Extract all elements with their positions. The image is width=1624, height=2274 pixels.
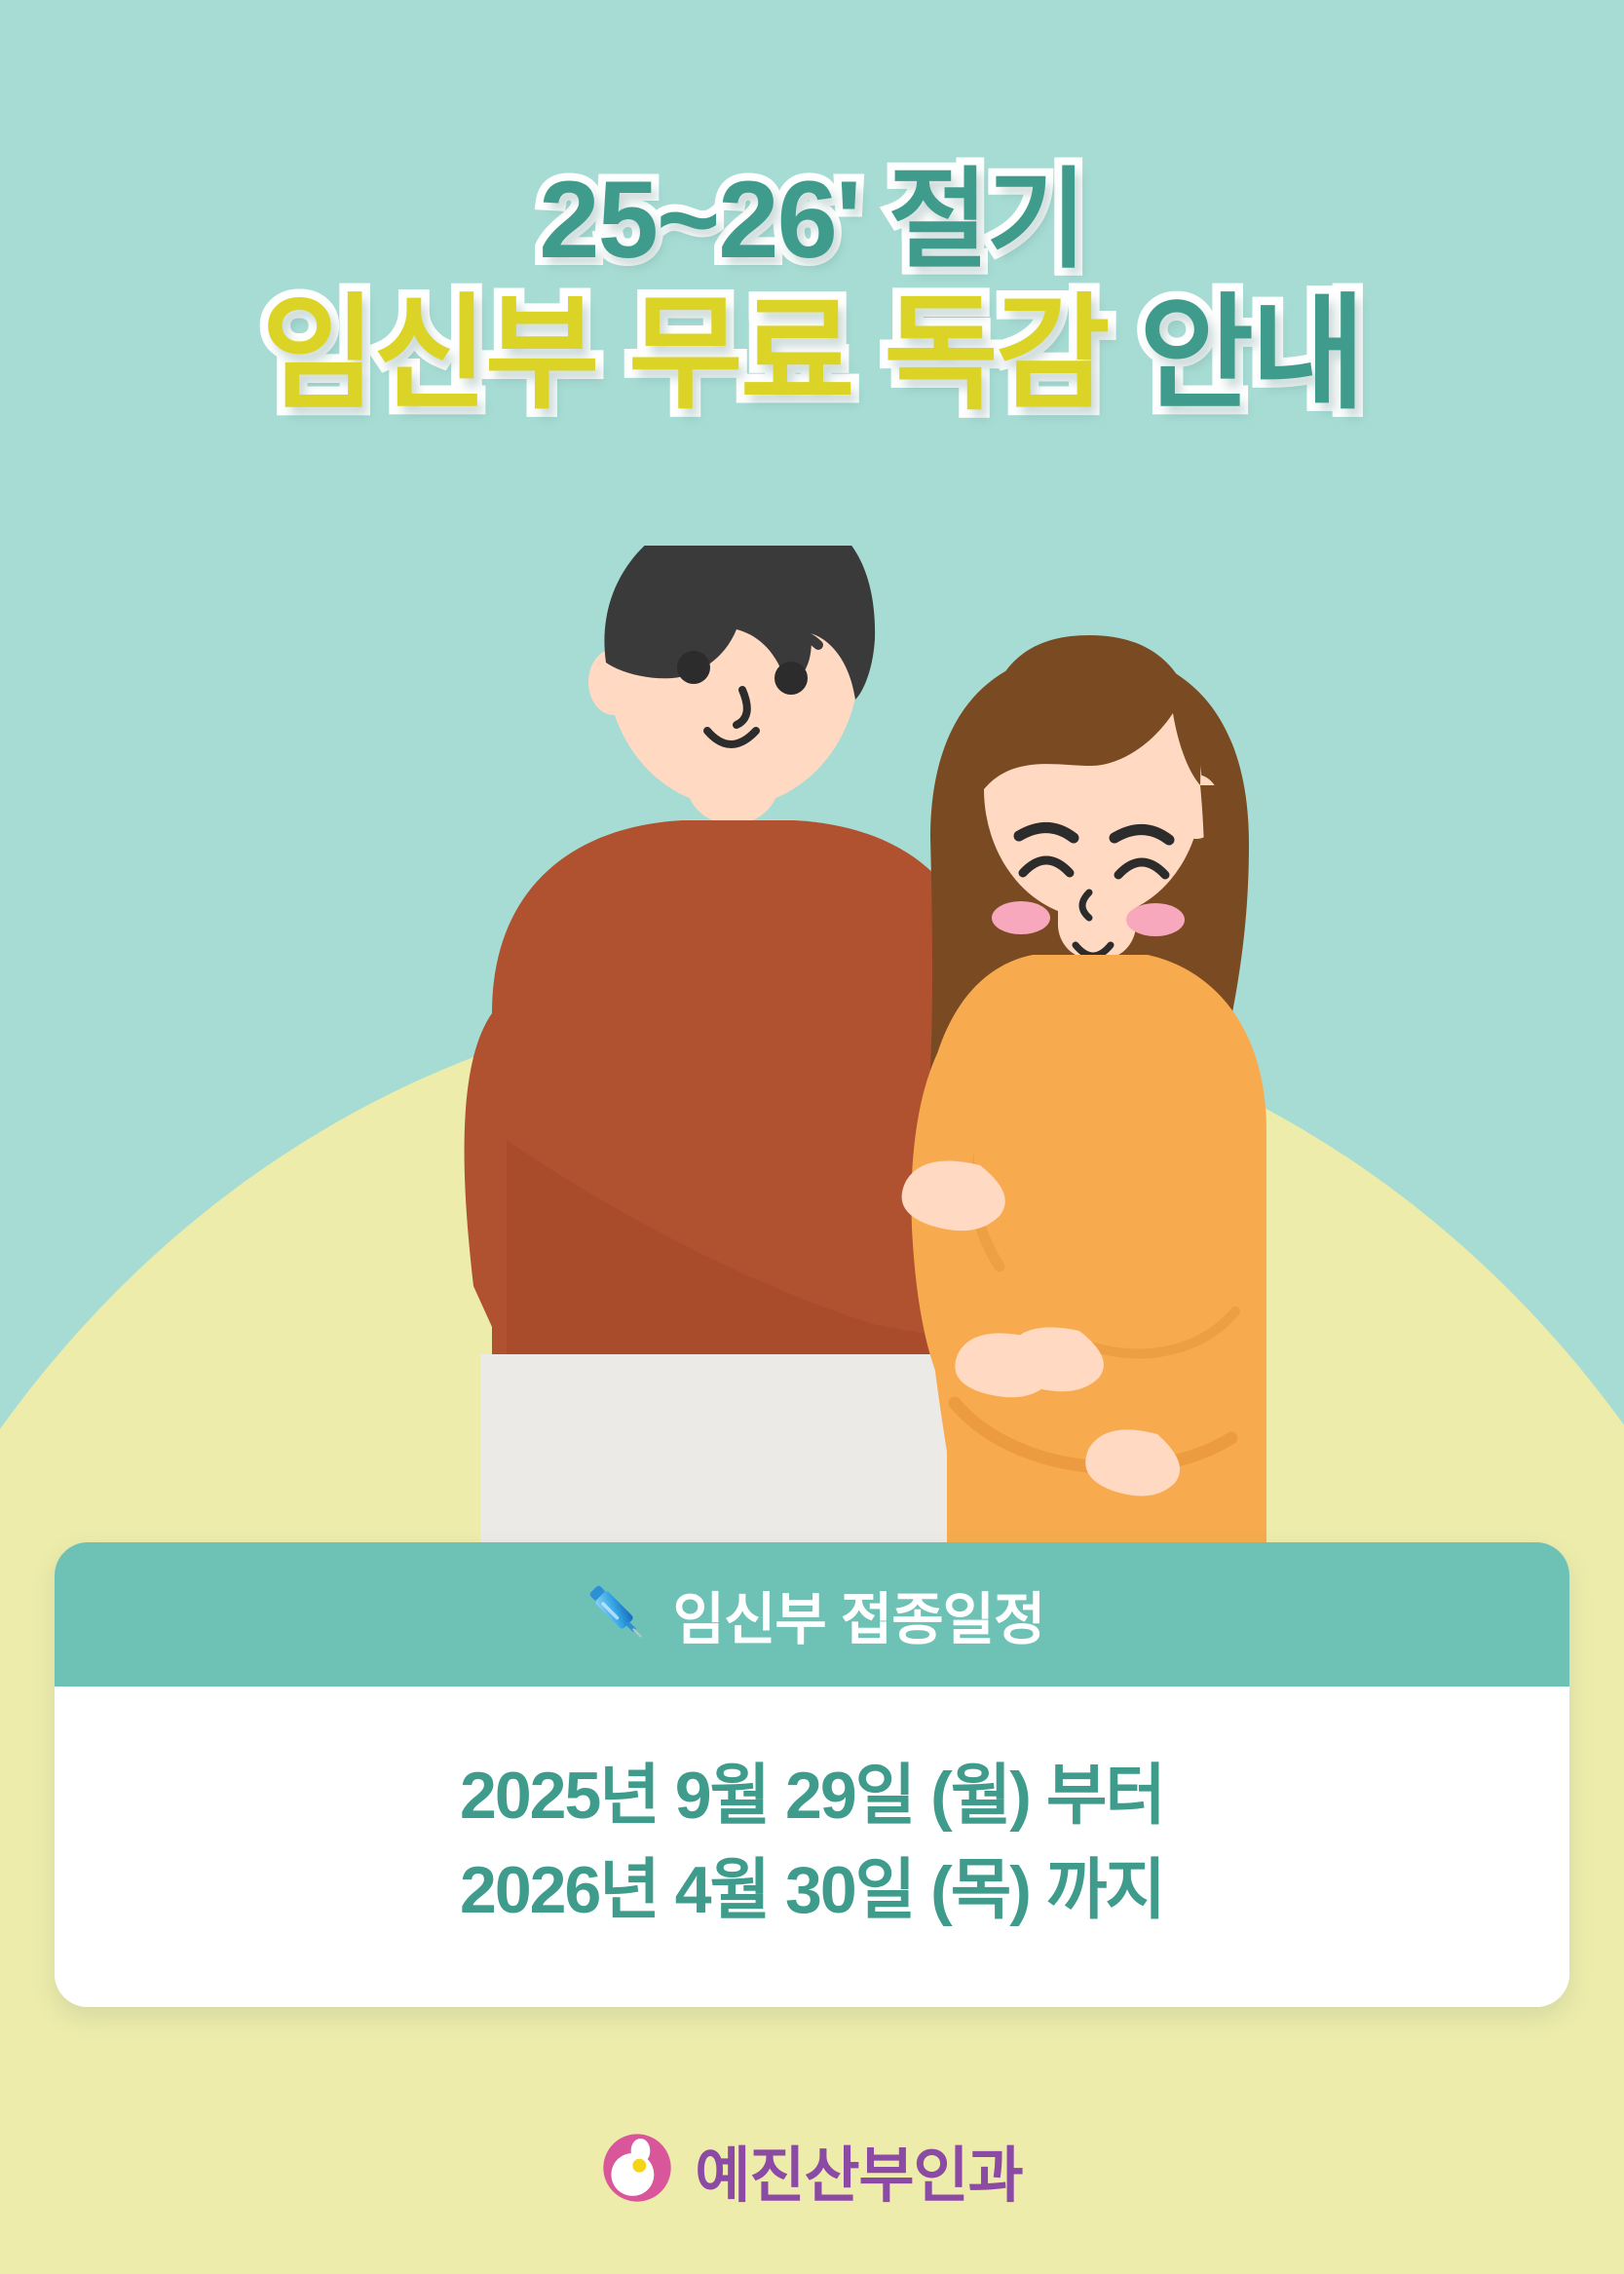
schedule-card-title: 임신부 접종일정 [673, 1573, 1045, 1655]
poster-root: 25~26' 절기 임신부 무료 독감 안내 [0, 0, 1624, 2274]
couple-illustration [0, 546, 1624, 1549]
schedule-card-body: 2025년 9월 29일 (월) 부터 2026년 4월 30일 (목) 까지 [55, 1687, 1569, 2007]
schedule-start-date: 2025년 9월 29일 (월) 부터 [55, 1749, 1569, 1843]
schedule-end-date: 2026년 4월 30일 (목) 까지 [55, 1843, 1569, 1938]
clinic-mark-icon [601, 2132, 673, 2209]
headline-line-1: 25~26' 절기 [0, 166, 1624, 275]
schedule-card: 임신부 접종일정 2025년 9월 29일 (월) 부터 2026년 4월 30… [55, 1542, 1569, 2007]
syringe-icon [580, 1575, 654, 1654]
clinic-name: 예진산부인과 [695, 2126, 1022, 2214]
headline-highlight-text: 임신부 무료 독감 [261, 284, 1107, 424]
headline-line-2: 임신부 무료 독감 안내 [0, 292, 1624, 417]
headline-rest-text: 안내 [1108, 284, 1363, 424]
clinic-logo: 예진산부인과 [0, 2126, 1624, 2214]
schedule-card-header: 임신부 접종일정 [55, 1542, 1569, 1687]
page-title: 25~26' 절기 임신부 무료 독감 안내 [0, 166, 1624, 417]
